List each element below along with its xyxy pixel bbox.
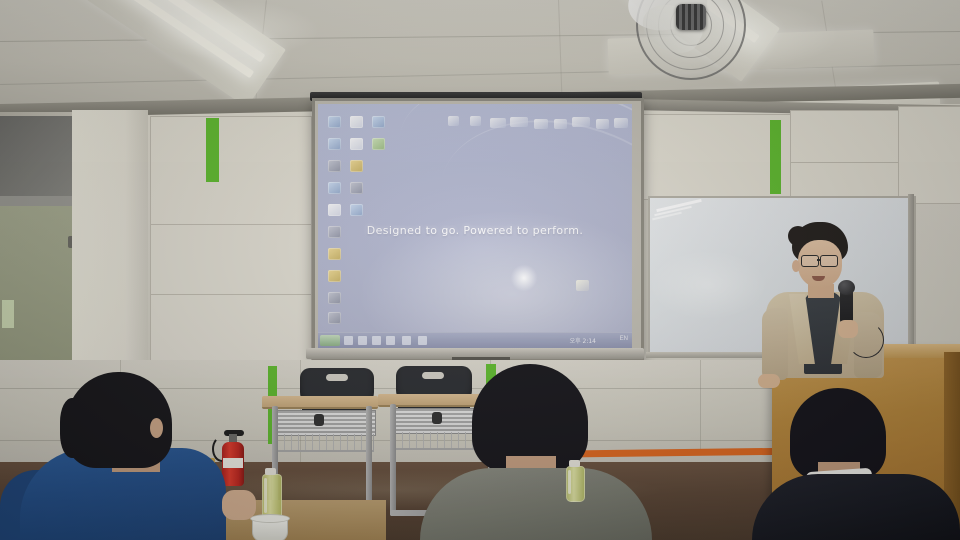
- presenter-arm: [762, 308, 788, 380]
- taskbar-clock[interactable]: 오후 2:14: [570, 336, 596, 345]
- desktop-icon[interactable]: [328, 160, 341, 172]
- fan-hub: [676, 4, 706, 30]
- microphone-head: [838, 280, 855, 295]
- fire-extinguisher-icon: [222, 430, 244, 486]
- presenter-hand: [758, 374, 780, 388]
- desktop-icon[interactable]: [328, 292, 341, 304]
- desktop-icon[interactable]: [328, 312, 341, 324]
- chair-handle: [326, 374, 348, 381]
- beverage-bottle: [566, 460, 583, 500]
- desk-basket: [276, 434, 374, 452]
- desktop-icon[interactable]: [614, 118, 628, 128]
- desk-leg: [390, 404, 396, 516]
- desktop-icon[interactable]: [490, 118, 506, 128]
- wall-panel: [150, 224, 312, 296]
- projector-hotspot: [510, 264, 538, 292]
- audience-member-ear: [150, 418, 163, 438]
- door-sign: [2, 300, 14, 328]
- taskbar-icon[interactable]: [372, 336, 381, 345]
- door-rail: [0, 196, 72, 206]
- desktop-icon[interactable]: [510, 117, 528, 127]
- taskbar-icon[interactable]: [402, 336, 411, 345]
- paper-cup-rim: [250, 514, 290, 523]
- wall-accent-stripe: [770, 120, 781, 194]
- wall-panel: [150, 294, 312, 366]
- bottle-cap: [265, 468, 276, 475]
- desktop-icon[interactable]: [328, 248, 341, 260]
- wall-seam: [700, 360, 701, 450]
- desktop-icon[interactable]: [448, 116, 459, 126]
- wall-accent-stripe: [206, 118, 219, 182]
- audience-member-hand: [222, 490, 256, 520]
- desktop-icon[interactable]: [534, 119, 548, 129]
- slide-slogan-text: Designed to go. Powered to perform.: [318, 224, 632, 237]
- ceiling-fan-icon: [636, 0, 746, 80]
- desktop-icon[interactable]: [470, 116, 481, 126]
- desktop-icon[interactable]: [328, 138, 341, 150]
- eyeglasses-icon: [820, 255, 838, 267]
- taskbar-tray-language[interactable]: EN: [620, 336, 628, 342]
- bottle-highlight: [264, 478, 267, 513]
- taskbar-icon[interactable]: [344, 336, 353, 345]
- desktop-shortcut-icon[interactable]: [576, 280, 589, 291]
- desktop-icon[interactable]: [554, 119, 567, 129]
- presenter-hand: [838, 320, 858, 338]
- wall-panel: [898, 106, 960, 204]
- bottle-highlight: [568, 470, 571, 494]
- desktop-icon[interactable]: [572, 117, 590, 127]
- desktop-icon[interactable]: [350, 160, 363, 172]
- presenter-ear: [792, 260, 800, 272]
- desktop-icon[interactable]: [328, 182, 341, 194]
- start-button[interactable]: [320, 335, 340, 346]
- desktop-icon[interactable]: [328, 204, 341, 216]
- audience-member-center: [420, 468, 652, 540]
- desktop-icon[interactable]: [372, 138, 385, 150]
- taskbar[interactable]: 오후 2:14 EN: [318, 332, 632, 348]
- desktop-icon[interactable]: [350, 204, 363, 216]
- desktop-icon[interactable]: [372, 116, 385, 128]
- eyeglasses-bridge: [817, 259, 820, 261]
- desktop-icon[interactable]: [350, 116, 363, 128]
- door-window: [0, 116, 80, 202]
- desk-hook: [432, 412, 442, 424]
- student-desk[interactable]: [262, 396, 378, 409]
- desktop-icon[interactable]: [328, 270, 341, 282]
- taskbar-icon[interactable]: [418, 336, 427, 345]
- desk-modesty-panel: [274, 410, 376, 436]
- wall-panel: [150, 116, 312, 226]
- desk-hook: [314, 414, 324, 426]
- whiteboard-edge: [908, 194, 914, 358]
- taskbar-icon[interactable]: [386, 336, 395, 345]
- light-glow: [140, 0, 320, 60]
- chair-handle: [422, 372, 444, 379]
- extinguisher-label: [223, 458, 243, 468]
- whiteboard-reflection: [648, 250, 768, 320]
- projection-screen[interactable]: Designed to go. Powered to perform. 오후 2…: [318, 104, 632, 348]
- photo-scene: Designed to go. Powered to perform. 오후 2…: [0, 0, 960, 540]
- presenter: [762, 222, 887, 372]
- audience-member-hair: [60, 398, 90, 458]
- audience-member-right: [752, 474, 960, 540]
- desktop-icon[interactable]: [350, 138, 363, 150]
- taskbar-icon[interactable]: [358, 336, 367, 345]
- eyeglasses-icon: [801, 255, 819, 267]
- desktop-icon[interactable]: [596, 119, 609, 129]
- bottle-cap: [569, 460, 580, 467]
- desktop-icon[interactable]: [328, 116, 341, 128]
- wall-panel: [790, 110, 900, 164]
- desktop-icon[interactable]: [350, 182, 363, 194]
